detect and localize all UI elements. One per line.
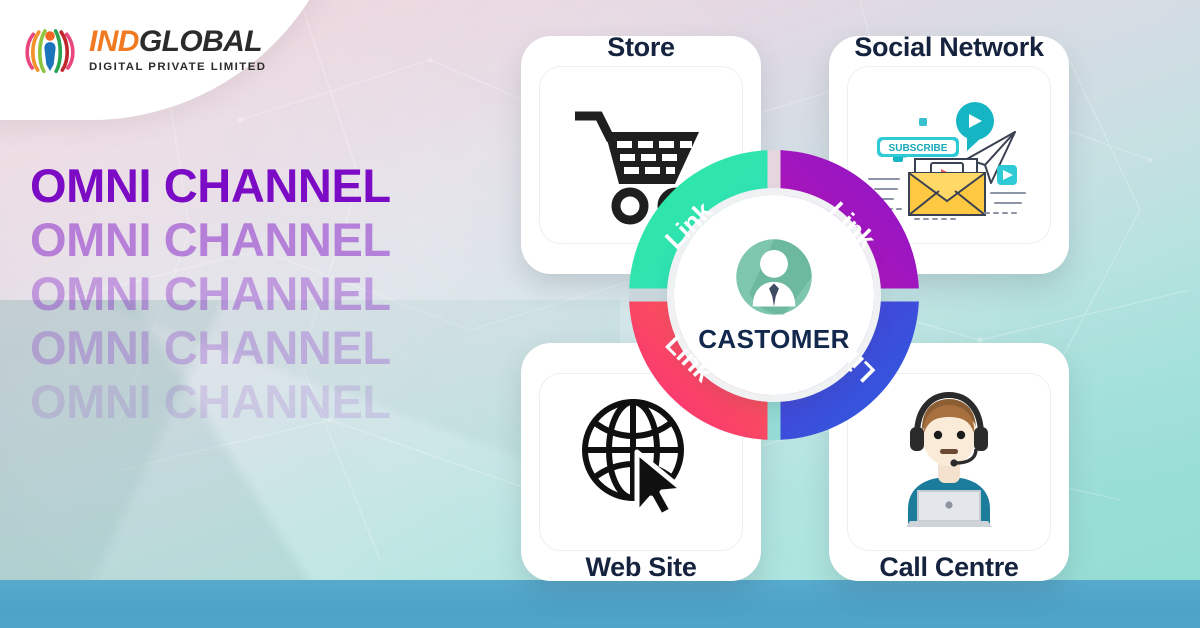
user-avatar-icon: [733, 236, 815, 318]
logo-word-ind: IND: [89, 25, 139, 58]
logo-tagline: DIGITAL PRIVATE LIMITED: [89, 62, 266, 73]
card-label-store: Store: [521, 32, 761, 63]
logo-text-block: INDGLOBAL DIGITAL PRIVATE LIMITED: [89, 27, 266, 73]
wheel-center-content: CASTOMER: [674, 195, 874, 395]
headline-line-5: OMNI CHANNEL: [30, 379, 391, 424]
logo-wordmark: INDGLOBAL: [89, 27, 266, 57]
wheel-center-title: CASTOMER: [698, 324, 850, 355]
poster-canvas: INDGLOBAL DIGITAL PRIVATE LIMITED OMNI C…: [0, 0, 1200, 628]
headline-line-1: OMNI CHANNEL: [30, 163, 391, 208]
logo-word-global: GLOBAL: [139, 25, 262, 58]
bottom-color-band: [0, 580, 1200, 628]
headline-stack: OMNI CHANNEL OMNI CHANNEL OMNI CHANNEL O…: [30, 163, 391, 434]
card-label-social-network: Social Network: [829, 32, 1069, 63]
card-label-call-centre: Call Centre: [829, 552, 1069, 583]
headline-line-4: OMNI CHANNEL: [30, 325, 391, 370]
headline-line-3: OMNI CHANNEL: [30, 271, 391, 316]
card-label-website: Web Site: [521, 552, 761, 583]
omnichannel-wheel: Link Link Link Link CASTOMER: [629, 150, 919, 440]
headline-line-2: OMNI CHANNEL: [30, 217, 391, 262]
indglobal-swoosh-logo-icon: [22, 22, 78, 78]
brand-logo[interactable]: INDGLOBAL DIGITAL PRIVATE LIMITED: [22, 22, 266, 78]
